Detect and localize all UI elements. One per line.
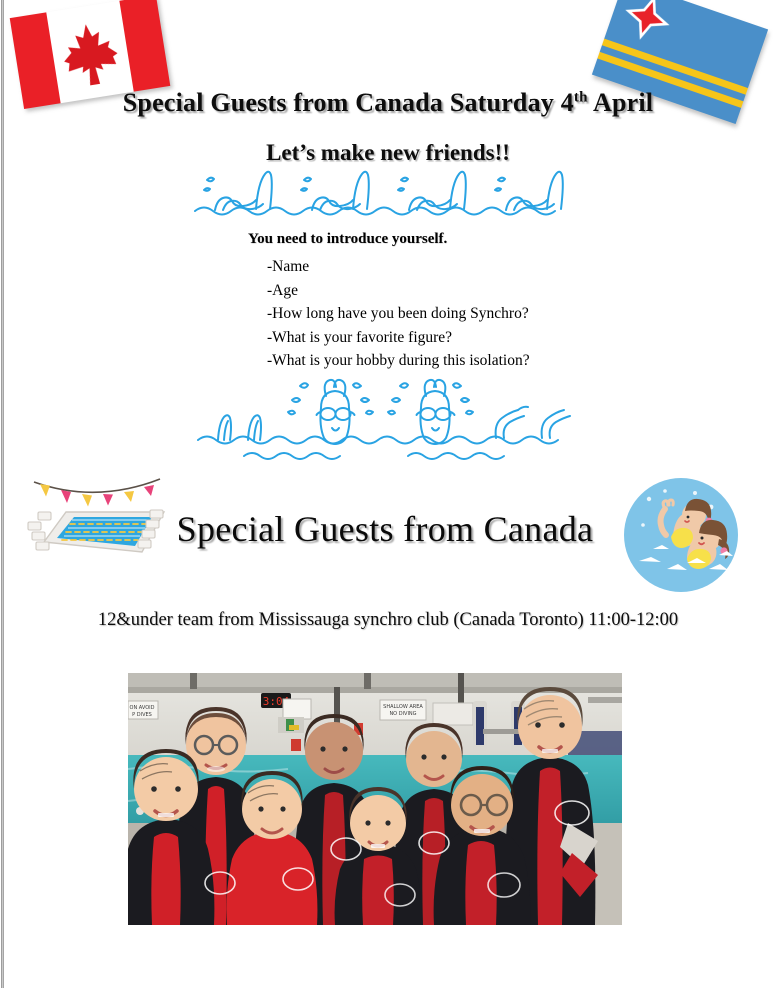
svg-text:P DIVES: P DIVES — [132, 712, 152, 718]
team-photo: 3:04 SHALLOW AREA NO DIVING ON AVOID P D… — [128, 673, 622, 925]
svg-text:NO DIVING: NO DIVING — [389, 711, 416, 717]
list-item: -How long have you been doing Synchro? — [267, 302, 708, 326]
page-title: Special Guests from Canada Saturday 4th … — [0, 88, 776, 118]
svg-text:SHALLOW AREA: SHALLOW AREA — [383, 704, 423, 710]
event-caption: 12&under team from Mississauga synchro c… — [0, 610, 776, 631]
list-item: -Age — [267, 279, 708, 303]
synchro-swimmers-border-svg — [196, 372, 578, 468]
swimmer-legs-border-icon — [193, 166, 581, 222]
team-photo-svg: 3:04 SHALLOW AREA NO DIVING ON AVOID P D… — [128, 673, 622, 925]
synchro-duet-badge-icon — [623, 477, 739, 593]
page-title-ordinal: th — [574, 89, 588, 105]
bunting-flags — [40, 484, 154, 507]
flyer-page: Special Guests from Canada Saturday 4th … — [0, 0, 776, 988]
list-item: -What is your hobby during this isolatio… — [267, 349, 708, 373]
list-item: -Name — [267, 255, 708, 279]
intro-question-list: -Name -Age -How long have you been doing… — [248, 255, 708, 373]
synchro-duet-badge-svg — [623, 477, 739, 593]
swimmer-legs-border-svg — [193, 166, 581, 222]
intro-lead-text: You need to introduce yourself. — [248, 228, 708, 251]
page-title-tail: April — [588, 88, 654, 117]
main-heading: Special Guests from Canada — [150, 508, 620, 550]
intro-section: You need to introduce yourself. -Name -A… — [248, 228, 708, 373]
list-item: -What is your favorite figure? — [267, 326, 708, 350]
page-title-main: Special Guests from Canada Saturday 4 — [123, 88, 574, 117]
synchro-swimmers-border-icon — [196, 372, 578, 468]
svg-text:ON AVOID: ON AVOID — [130, 705, 155, 711]
page-subtitle: Let’s make new friends!! — [0, 140, 776, 166]
